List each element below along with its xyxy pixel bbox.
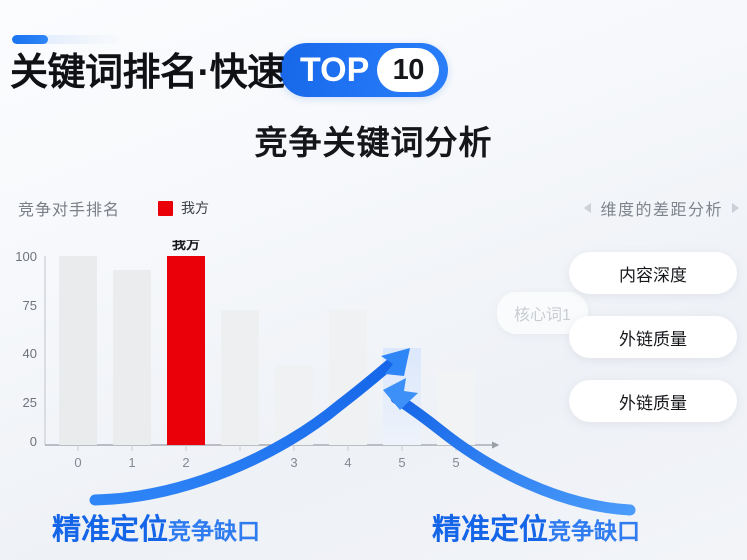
caption-strong: 精准定位 — [52, 506, 168, 548]
x-tick-label: 3 — [290, 455, 297, 470]
legend-ours-label: 我方 — [181, 198, 209, 218]
bar-ghost — [383, 348, 421, 445]
dimension-pill[interactable]: 外链质量 — [569, 316, 737, 358]
x-tick-label: 0 — [74, 455, 81, 470]
bar — [275, 365, 313, 445]
x-tick-label: 2 — [182, 455, 189, 470]
dimension-pill[interactable]: 内容深度 — [569, 252, 737, 294]
y-tick-label: 75 — [23, 298, 37, 313]
page-subtitle: 竞争关键词分析 — [0, 116, 747, 164]
bottom-caption-left: 精准定位 竞争缺口 — [52, 506, 260, 548]
x-tick-label: 5 — [452, 455, 459, 470]
triangle-right-icon[interactable] — [732, 203, 739, 213]
dimension-pill-list: 内容深度 外链质量 外链质量 — [569, 252, 737, 422]
bar — [329, 310, 367, 445]
chart-y-tick-labels: 100 75 40 25 0 — [15, 249, 37, 449]
bar — [221, 310, 259, 445]
top-badge-label: TOP — [300, 53, 369, 87]
x-tick-label: 4 — [344, 455, 351, 470]
dimension-analysis-header: 维度的差距分析 — [584, 196, 739, 220]
chart-x-tick-labels: 0 1 2 3 4 5 5 — [74, 455, 459, 470]
legend-item-ours: 我方 — [158, 198, 209, 218]
bar — [59, 256, 97, 445]
dimension-pill[interactable]: 外链质量 — [569, 380, 737, 422]
x-tick-label: 5 — [398, 455, 405, 470]
x-tick-label: 1 — [128, 455, 135, 470]
bottom-caption-right: 精准定位 竞争缺口 — [432, 506, 640, 548]
top-badge-count: 10 — [377, 48, 439, 92]
competitor-rank-bar-chart: 100 75 40 25 0 我方 — [0, 240, 540, 480]
chart-bars — [59, 256, 475, 445]
y-tick-label: 25 — [23, 395, 37, 410]
competitor-rank-label: 竞争对手排名 — [18, 196, 120, 220]
y-tick-label: 0 — [30, 434, 37, 449]
bar — [437, 370, 475, 445]
top-rank-badge: TOP 10 — [280, 43, 448, 97]
bar-ours — [167, 256, 205, 445]
caption-weak: 竞争缺口 — [548, 512, 640, 546]
y-tick-label: 40 — [23, 346, 37, 361]
chart-x-ticks — [78, 445, 456, 451]
headline: 关键词排名·快速 — [10, 42, 285, 104]
caption-strong: 精准定位 — [432, 506, 548, 548]
dimension-header-label: 维度的差距分析 — [600, 196, 723, 220]
y-tick-label: 100 — [15, 249, 37, 264]
legend-swatch-icon — [158, 201, 173, 216]
ours-bar-annotation: 我方 — [172, 240, 200, 252]
caption-weak: 竞争缺口 — [168, 512, 260, 546]
bar — [113, 270, 151, 445]
chart-legend-row: 竞争对手排名 我方 — [18, 196, 209, 220]
page-title: 关键词排名·快速 — [10, 54, 285, 92]
triangle-left-icon[interactable] — [584, 203, 591, 213]
